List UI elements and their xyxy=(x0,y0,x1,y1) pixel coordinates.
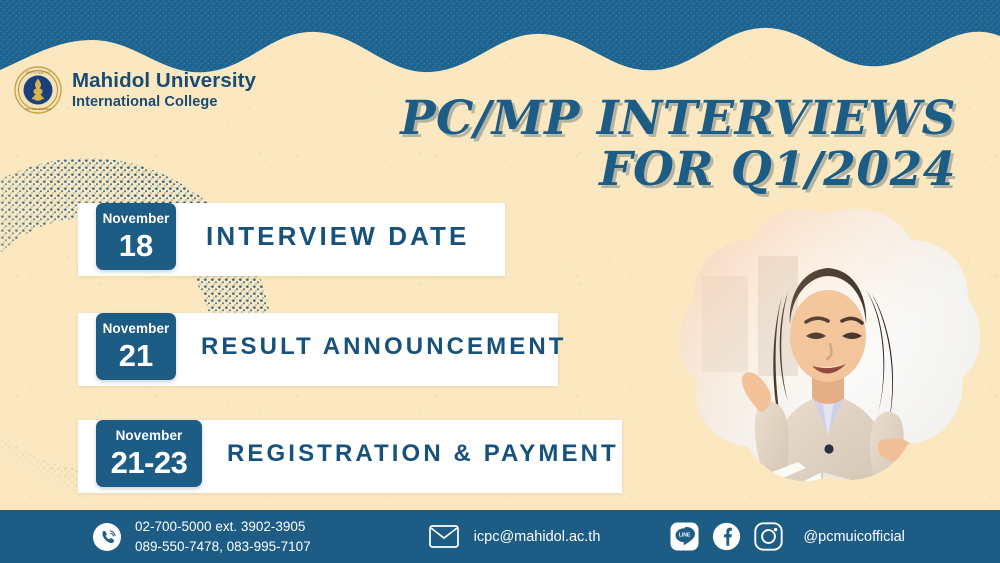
date-badge: November 21 xyxy=(96,313,176,380)
phone-line-1: 02-700-5000 ext. 3902-3905 xyxy=(135,517,311,537)
page-title: PC/MP INTERVIEWS FOR Q1/2024 xyxy=(400,96,956,193)
facebook-icon[interactable] xyxy=(712,522,741,551)
badge-month: November xyxy=(103,322,170,336)
university-name-block: Mahidol University International College xyxy=(72,71,256,110)
phone-numbers: 02-700-5000 ext. 3902-3905 089-550-7478,… xyxy=(135,517,311,556)
university-name: Mahidol University xyxy=(72,71,256,92)
email-contact: icpc@mahidol.ac.th xyxy=(429,525,601,548)
instagram-icon[interactable] xyxy=(754,522,783,551)
schedule-row-result-announcement: November 21 RESULT ANNOUNCEMENT xyxy=(78,313,567,380)
schedule-row-registration-payment: November 21-23 REGISTRATION & PAYMENT xyxy=(78,420,619,487)
badge-month: November xyxy=(116,429,183,443)
svg-text:มหาวิทยาลัยมหิดล: มหาวิทยาลัยมหิดล xyxy=(25,107,51,111)
social-handle: @pcmuicofficial xyxy=(803,529,905,545)
social-links: LINE @pcmuicofficial xyxy=(670,522,905,551)
promo-poster: อตฺตานํ อุปมํ กเร มหาวิทยาลัยมหิดล Mahid… xyxy=(0,0,1000,563)
page-title-line1: PC/MP INTERVIEWS xyxy=(400,96,956,142)
badge-day: 21 xyxy=(119,340,153,371)
contact-footer: 02-700-5000 ext. 3902-3905 089-550-7478,… xyxy=(0,510,1000,563)
date-badge: November 21-23 xyxy=(96,420,202,487)
envelope-icon xyxy=(429,525,459,548)
schedule-row-interview-date: November 18 INTERVIEW DATE xyxy=(78,203,469,270)
row-label: INTERVIEW DATE xyxy=(206,221,469,252)
top-wave-decoration xyxy=(0,0,1000,74)
badge-day: 18 xyxy=(119,230,153,261)
brand-lockup: อตฺตานํ อุปมํ กเร มหาวิทยาลัยมหิดล Mahid… xyxy=(14,66,256,114)
college-name: International College xyxy=(72,95,256,110)
email-address: icpc@mahidol.ac.th xyxy=(474,529,601,545)
page-title-line2: FOR Q1/2024 xyxy=(400,147,956,193)
phone-icon xyxy=(92,522,122,552)
phone-line-2: 089-550-7478, 083-995-7107 xyxy=(135,537,311,557)
row-label: REGISTRATION & PAYMENT xyxy=(227,440,619,468)
mahidol-seal-icon: อตฺตานํ อุปมํ กเร มหาวิทยาลัยมหิดล xyxy=(14,66,62,114)
phone-contact: 02-700-5000 ext. 3902-3905 089-550-7478,… xyxy=(92,517,311,556)
svg-text:LINE: LINE xyxy=(679,533,691,539)
badge-day: 21-23 xyxy=(111,447,188,478)
line-icon[interactable]: LINE xyxy=(670,522,699,551)
student-photo xyxy=(672,196,982,506)
date-badge: November 18 xyxy=(96,203,176,270)
badge-month: November xyxy=(103,212,170,226)
row-label: RESULT ANNOUNCEMENT xyxy=(201,333,567,361)
